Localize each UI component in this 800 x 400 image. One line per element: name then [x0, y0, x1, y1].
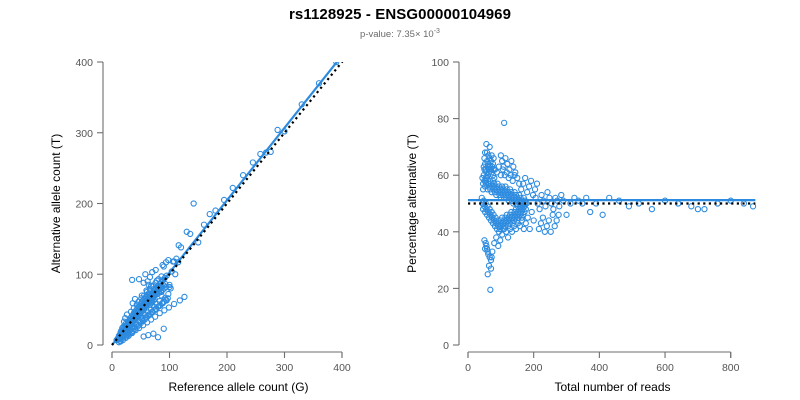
data-point [525, 190, 530, 195]
data-point [275, 127, 280, 132]
data-point [487, 144, 492, 149]
data-point [166, 305, 171, 310]
y-tick-label: 0 [443, 340, 449, 352]
data-point [542, 229, 547, 234]
y-tick-label: 300 [75, 128, 93, 140]
data-point [649, 207, 654, 212]
data-point [551, 207, 556, 212]
data-point [545, 190, 550, 195]
x-tick-label: 800 [722, 362, 740, 374]
data-point [503, 156, 508, 161]
data-point [496, 243, 501, 248]
data-point [588, 209, 593, 214]
x-tick-label: 600 [656, 362, 674, 374]
reference-line [112, 34, 365, 345]
data-point [544, 224, 549, 229]
data-point [132, 296, 137, 301]
data-point [540, 215, 545, 220]
data-point [505, 235, 510, 240]
data-point [500, 158, 505, 163]
data-point [556, 212, 561, 217]
data-point [191, 201, 196, 206]
data-point [702, 207, 707, 212]
y-tick-label: 60 [437, 170, 449, 182]
data-point [552, 224, 557, 229]
y-tick-label: 80 [437, 114, 449, 126]
data-point [534, 181, 539, 186]
x-tick-label: 100 [161, 362, 179, 374]
data-point [539, 192, 544, 197]
x-axis-title: Total number of reads [554, 380, 670, 394]
y-axis-title: Alternative allele count (T) [49, 134, 63, 273]
y-axis-title: Percentage alternative (T) [405, 134, 419, 273]
y-tick-label: 40 [437, 227, 449, 239]
data-point [172, 301, 177, 306]
x-tick-label: 300 [276, 362, 294, 374]
data-point [130, 277, 135, 282]
data-point [600, 212, 605, 217]
plot-area-right [468, 120, 756, 292]
data-point [488, 287, 493, 292]
x-axis-title: Reference allele count (G) [168, 380, 308, 394]
x-tick-label: 0 [109, 362, 115, 374]
data-point [155, 335, 160, 340]
figure-container: rs1128925 - ENSG00000104969 p-value: 7.3… [0, 0, 800, 400]
data-point [151, 331, 156, 336]
plot-area-left [112, 29, 365, 345]
data-point [502, 120, 507, 125]
data-point [519, 187, 524, 192]
data-point [526, 184, 531, 189]
data-point [525, 215, 530, 220]
data-point [136, 277, 141, 282]
x-tick-label: 400 [333, 362, 351, 374]
y-tick-label: 20 [437, 283, 449, 295]
data-point [511, 164, 516, 169]
data-point [532, 187, 537, 192]
scatter-plots-svg: 01002003004000100200300400Reference alle… [0, 0, 800, 400]
data-point [153, 314, 158, 319]
data-point [550, 212, 555, 217]
data-point [161, 326, 166, 331]
data-point [529, 209, 534, 214]
data-point [531, 218, 536, 223]
y-tick-label: 200 [75, 199, 93, 211]
data-point [527, 226, 532, 231]
data-point [548, 229, 553, 234]
y-tick-label: 400 [75, 57, 93, 69]
y-tick-label: 0 [87, 340, 93, 352]
data-point [537, 207, 542, 212]
x-tick-label: 200 [525, 362, 543, 374]
data-point [177, 298, 182, 303]
x-tick-label: 400 [591, 362, 609, 374]
data-point [485, 272, 490, 277]
data-point [523, 175, 528, 180]
panel-right: 0200400600800020406080100Total number of… [405, 57, 756, 394]
data-point [521, 226, 526, 231]
data-point [695, 207, 700, 212]
data-point [509, 158, 514, 163]
fit-line [112, 29, 363, 345]
data-point [528, 178, 533, 183]
panel-left: 01002003004000100200300400Reference alle… [49, 29, 365, 394]
data-point [546, 218, 551, 223]
data-point [357, 31, 362, 36]
data-point [554, 218, 559, 223]
data-point [173, 272, 178, 277]
data-point [559, 192, 564, 197]
data-point [207, 212, 212, 217]
y-axis-line [453, 62, 459, 345]
y-tick-label: 100 [75, 269, 93, 281]
data-point [498, 238, 503, 243]
data-point [484, 141, 489, 146]
data-point [523, 221, 528, 226]
data-point [538, 221, 543, 226]
data-point [182, 294, 187, 299]
x-tick-label: 200 [218, 362, 236, 374]
data-point [147, 274, 152, 279]
x-tick-label: 0 [465, 362, 471, 374]
data-point [536, 226, 541, 231]
y-tick-label: 100 [431, 57, 449, 69]
series-samples [479, 120, 755, 292]
data-point [564, 212, 569, 217]
